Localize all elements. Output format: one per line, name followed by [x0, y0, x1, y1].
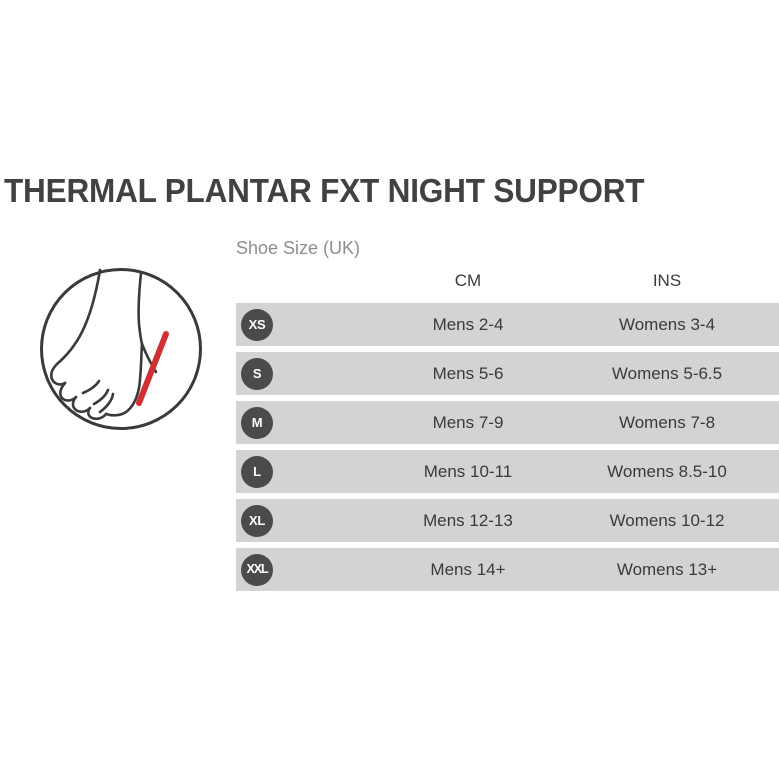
- table-row: L Mens 10-11 Womens 8.5-10: [236, 450, 779, 493]
- cell-cm: Mens 10-11: [398, 450, 538, 493]
- status-badge: XL: [241, 505, 273, 537]
- cell-ins: Womens 10-12: [597, 499, 737, 542]
- cell-cm: Mens 7-9: [398, 401, 538, 444]
- table-row: M Mens 7-9 Womens 7-8: [236, 401, 779, 444]
- cell-ins: Womens 7-8: [597, 401, 737, 444]
- table-row: S Mens 5-6 Womens 5-6.5: [236, 352, 779, 395]
- cell-ins: Womens 5-6.5: [597, 352, 737, 395]
- column-header-cm: CM: [398, 271, 538, 291]
- status-badge: L: [241, 456, 273, 488]
- table-row: XL Mens 12-13 Womens 10-12: [236, 499, 779, 542]
- table-row: XS Mens 2-4 Womens 3-4: [236, 303, 779, 346]
- table-row: XXL Mens 14+ Womens 13+: [236, 548, 779, 591]
- status-badge: XXL: [241, 554, 273, 586]
- column-header-ins: INS: [597, 271, 737, 291]
- cell-cm: Mens 14+: [398, 548, 538, 591]
- cell-ins: Womens 13+: [597, 548, 737, 591]
- cell-cm: Mens 5-6: [398, 352, 538, 395]
- status-badge: M: [241, 407, 273, 439]
- cell-cm: Mens 2-4: [398, 303, 538, 346]
- table-caption: Shoe Size (UK): [236, 238, 360, 259]
- cell-ins: Womens 8.5-10: [597, 450, 737, 493]
- status-badge: XS: [241, 309, 273, 341]
- page-title: THERMAL PLANTAR FXT NIGHT SUPPORT: [4, 172, 644, 210]
- size-table: XS Mens 2-4 Womens 3-4 S Mens 5-6 Womens…: [236, 303, 779, 591]
- foot-plantar-fascia-icon: [38, 266, 204, 432]
- status-badge: S: [241, 358, 273, 390]
- cell-cm: Mens 12-13: [398, 499, 538, 542]
- cell-ins: Womens 3-4: [597, 303, 737, 346]
